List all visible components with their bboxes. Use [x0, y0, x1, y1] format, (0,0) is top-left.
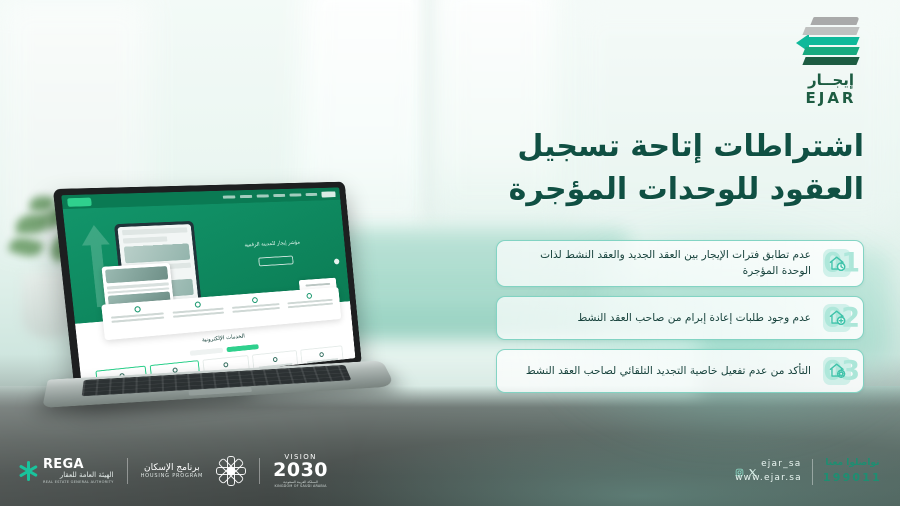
instagram-icon[interactable]: [735, 460, 744, 469]
housing-program-logo: برنامج الإسكان HOUSING PROGRAM: [141, 463, 204, 480]
x-twitter-icon[interactable]: [748, 460, 757, 469]
requirement-card-2: عدم وجود طلبات إعادة إبرام من صاحب العقد…: [496, 296, 864, 340]
ejar-logo-mark-icon: [796, 16, 866, 68]
saudi-emblem-icon: [216, 456, 246, 486]
ejar-logo: إيجــار EJAR: [796, 16, 866, 107]
requirement-badge-1: 01: [817, 245, 859, 281]
vision-sub-en: KINGDOM OF SAUDI ARABIA: [273, 485, 328, 489]
requirement-card-3: التأكد من عدم تفعيل خاصية التجديد التلقا…: [496, 349, 864, 393]
divider: [812, 459, 813, 485]
requirement-text-2: عدم وجود طلبات إعادة إبرام من صاحب العقد…: [509, 310, 811, 326]
social-links[interactable]: ejar_sa www.ejar.sa: [735, 458, 802, 484]
rega-logo: REGA الهيئة العامة للعقار REAL ESTATE GE…: [18, 458, 114, 484]
house-clock-icon: [823, 249, 851, 277]
poster-canvas: مؤشر إيجار للمدينة الرقمية الخدمات الإلك…: [0, 0, 900, 506]
requirements-list: عدم تطابق فترات الإيجار بين العقد الجديد…: [496, 240, 864, 393]
social-handle[interactable]: ejar_sa: [761, 458, 801, 471]
ejar-logo-arabic: إيجــار: [796, 73, 866, 89]
laptop-screen: مؤشر إيجار للمدينة الرقمية الخدمات الإلك…: [61, 187, 355, 388]
housing-name-en: HOUSING PROGRAM: [141, 473, 204, 479]
page-title: اشتراطات إتاحة تسجيل العقود للوحدات المؤ…: [444, 126, 864, 211]
divider: [259, 458, 260, 484]
requirement-card-1: عدم تطابق فترات الإيجار بين العقد الجديد…: [496, 240, 864, 287]
website-logo: [321, 191, 335, 197]
website-login-button: [67, 197, 92, 206]
rega-subtitle: REAL ESTATE GENERAL AUTHORITY: [43, 480, 114, 484]
contact-number[interactable]: 199011: [823, 470, 882, 486]
contact-info: تواصلوا معنا 199011: [823, 457, 882, 486]
contact-label: تواصلوا معنا: [823, 457, 882, 470]
requirement-badge-2: 02: [817, 300, 859, 336]
requirement-badge-3: 03: [817, 353, 859, 389]
page-title-line1: اشتراطات إتاحة تسجيل: [444, 126, 864, 169]
website-hero-cta: [258, 256, 293, 267]
vision-2030-logo: VISION 2030 المملكة العربية السعودية KIN…: [273, 454, 328, 488]
partner-logos: REGA الهيئة العامة للعقار REAL ESTATE GE…: [18, 454, 328, 488]
house-plus-icon: [823, 304, 851, 332]
divider: [127, 458, 128, 484]
housing-name-ar: برنامج الإسكان: [141, 463, 204, 474]
vision-number: 2030: [273, 461, 328, 481]
website-url[interactable]: www.ejar.sa: [735, 472, 802, 485]
page-title-line2: العقود للوحدات المؤجرة: [444, 169, 864, 212]
requirement-text-3: التأكد من عدم تفعيل خاصية التجديد التلقا…: [509, 363, 811, 379]
rega-name-en: REGA: [43, 458, 114, 473]
ejar-logo-english: EJAR: [796, 89, 866, 107]
website-hero-dot: [334, 259, 340, 265]
laptop: مؤشر إيجار للمدينة الرقمية الخدمات الإلك…: [48, 185, 393, 420]
website-hero-title: مؤشر إيجار للمدينة الرقمية: [211, 238, 330, 250]
requirement-text-1: عدم تطابق فترات الإيجار بين العقد الجديد…: [509, 247, 811, 280]
rega-mark-icon: [18, 461, 38, 481]
contact-block: ejar_sa www.ejar.sa تواصلوا معنا 199011: [735, 457, 882, 486]
house-gear-icon: [823, 357, 851, 385]
rega-name-ar: الهيئة العامة للعقار: [43, 472, 114, 480]
